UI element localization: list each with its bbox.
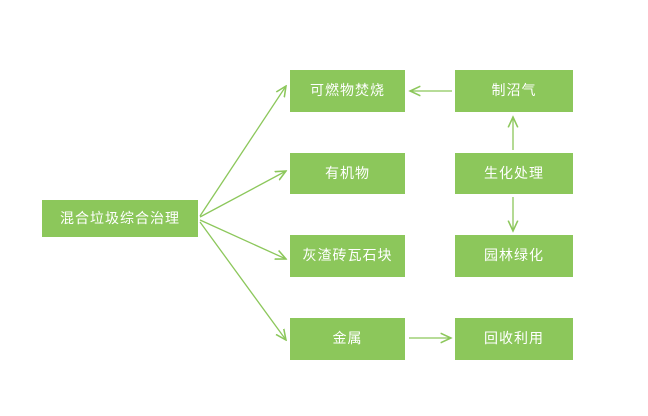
node-label: 有机物 (325, 167, 370, 181)
node-label: 生化处理 (484, 167, 544, 181)
node-label: 可燃物焚烧 (310, 84, 385, 98)
node-organic-matter[interactable]: 有机物 (290, 153, 405, 194)
node-landscaping[interactable]: 园林绿化 (455, 235, 573, 277)
node-biogas-production[interactable]: 制沼气 (455, 70, 573, 112)
node-mixed-waste-treatment[interactable]: 混合垃圾综合治理 (42, 200, 198, 237)
edge-root-to-metal (200, 222, 286, 340)
node-label: 回收利用 (484, 332, 544, 346)
node-label: 制沼气 (492, 84, 537, 98)
node-metal[interactable]: 金属 (290, 318, 405, 360)
node-combustible-incineration[interactable]: 可燃物焚烧 (290, 70, 405, 112)
node-label: 混合垃圾综合治理 (60, 212, 180, 226)
edge-root-to-ash (200, 220, 286, 259)
node-label: 园林绿化 (484, 249, 544, 263)
node-recycling-reuse[interactable]: 回收利用 (455, 318, 573, 360)
node-biochemical-treatment[interactable]: 生化处理 (455, 153, 573, 194)
edge-root-to-organic (200, 171, 286, 217)
edge-root-to-burn (200, 86, 286, 216)
diagram-canvas: 混合垃圾综合治理 可燃物焚烧 有机物 灰渣砖瓦石块 金属 制沼气 生化处理 园林… (0, 0, 648, 416)
node-ash-bricks-stones[interactable]: 灰渣砖瓦石块 (290, 235, 405, 277)
node-label: 金属 (333, 332, 363, 346)
node-label: 灰渣砖瓦石块 (303, 249, 393, 263)
